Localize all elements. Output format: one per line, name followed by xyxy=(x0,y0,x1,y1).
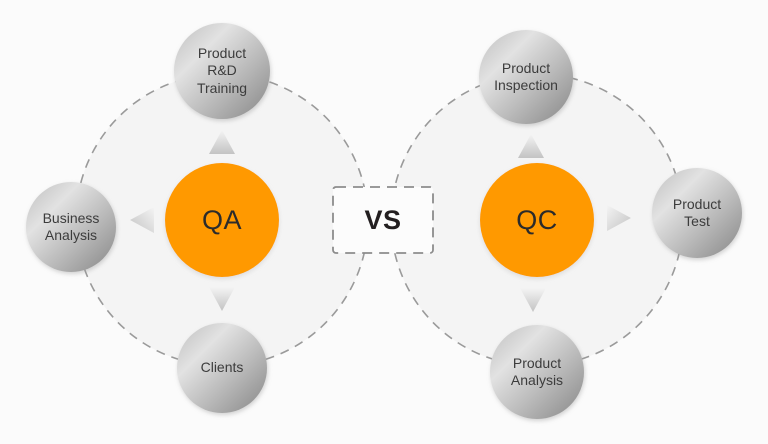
node-business-analysis-circle[interactable] xyxy=(26,182,116,272)
node-clients-circle[interactable] xyxy=(177,323,267,413)
vs-badge-box[interactable] xyxy=(333,187,433,253)
qc-cluster-hub-circle[interactable] xyxy=(480,163,594,277)
qa-cluster xyxy=(26,23,368,413)
diagram-shape-layer xyxy=(0,0,768,444)
node-product-analysis-circle[interactable] xyxy=(490,325,584,419)
node-product-test-circle[interactable] xyxy=(652,168,742,258)
node-product-rd-training-circle[interactable] xyxy=(174,23,270,119)
qa-cluster-hub-circle[interactable] xyxy=(165,163,279,277)
node-product-inspection-circle[interactable] xyxy=(479,30,573,124)
diagram-canvas: QAProduct R&D TrainingBusiness AnalysisC… xyxy=(0,0,768,444)
qc-cluster xyxy=(391,30,742,419)
